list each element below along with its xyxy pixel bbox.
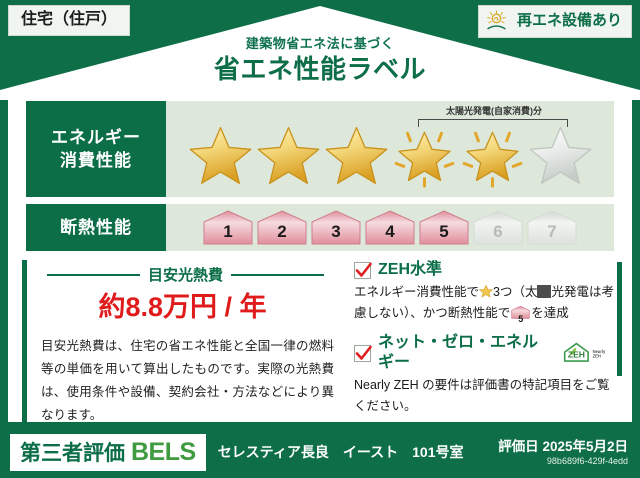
label-card: エネルギー 消費性能 太陽光発電(自家消費)分 xyxy=(8,92,632,422)
solar-annotation: 太陽光発電(自家消費)分 xyxy=(414,106,574,117)
star-icon-5-solar xyxy=(459,122,526,188)
insulation-badge-5-label: 5 xyxy=(418,222,470,242)
zeh-netzero-body: Nearly ZEH の要件は評価書の特記項目をご覧ください。 xyxy=(354,375,618,417)
insulation-badge-1: 1 xyxy=(202,209,254,247)
detail-columns: 目安光熱費 約8.8万円 / 年 目安光熱費は、住宅の省エネ性能と全国一律の燃料… xyxy=(22,260,618,427)
insulation-badge-7: 7 xyxy=(526,209,578,247)
zeh-standard-body: エネルギー消費性能で3つ（太光発電は考慮しない）、かつ断熱性能で5を達成 xyxy=(354,282,618,324)
heading-rule-left xyxy=(47,274,140,276)
bels-logo-en: BELS xyxy=(131,438,196,467)
check-icon xyxy=(354,261,373,280)
label-subtitle: 建築物省エネ法に基づく xyxy=(0,36,640,52)
energy-label-line1: エネルギー xyxy=(51,126,141,149)
insulation-badge-3-label: 3 xyxy=(310,222,362,242)
zeh-standard-checkbox[interactable] xyxy=(354,262,371,279)
zeh-netzero-block: ネット・ゼロ・エネルギー ZEH Nearly ZEH Nearly ZEH の… xyxy=(354,333,618,417)
label-title: 省エネ性能ラベル xyxy=(0,53,640,85)
energy-performance-label: エネルギー 消費性能 xyxy=(26,101,166,197)
house-type-badge: 住宅（住戸） xyxy=(8,5,130,36)
svg-text:ZEH: ZEH xyxy=(593,354,601,359)
insulation-badge-6: 6 xyxy=(472,209,524,247)
footer-bar: 第三者評価 BELS セレスティア長良 イースト 101号室 評価日 2025年… xyxy=(0,426,640,478)
bels-logo: 第三者評価 BELS xyxy=(10,434,206,471)
bels-logo-jp: 第三者評価 xyxy=(20,437,125,467)
mini-star-icon xyxy=(479,284,493,298)
svg-text:ZEH: ZEH xyxy=(568,350,585,360)
star-icon-2 xyxy=(255,122,322,188)
utility-cost-amount: 約8.8万円 / 年 xyxy=(35,291,340,323)
insulation-badge-5: 5 xyxy=(418,209,470,247)
redacted-character xyxy=(537,285,551,298)
insulation-badge-4-label: 4 xyxy=(364,222,416,242)
insulation-badge-6-label: 6 xyxy=(472,222,524,242)
heading-rule-right xyxy=(231,274,324,276)
zeh-standard-text-3: を達成 xyxy=(531,306,569,320)
utility-cost-heading-text: 目安光熱費 xyxy=(148,264,223,285)
insulation-badge-4: 4 xyxy=(364,209,416,247)
renewable-energy-label: 再エネ設備あり xyxy=(517,12,622,30)
zeh-standard-title: ZEH水準 xyxy=(378,260,442,280)
insulation-levels-panel: 1 2 3 4 xyxy=(166,204,614,251)
insulation-scale: 1 2 3 4 xyxy=(166,204,614,251)
zeh-netzero-checkbox[interactable] xyxy=(354,345,371,362)
star-icon-4-solar xyxy=(391,122,458,188)
star-icon-6-empty xyxy=(527,122,594,188)
check-icon xyxy=(354,344,373,363)
insulation-badge-2: 2 xyxy=(256,209,308,247)
energy-label-line2: 消費性能 xyxy=(60,149,132,172)
insulation-badge-3: 3 xyxy=(310,209,362,247)
star-icon-3 xyxy=(323,122,390,188)
zeh-standard-block: ZEH水準 エネルギー消費性能で3つ（太光発電は考慮しない）、かつ断熱性能で5を… xyxy=(354,260,618,324)
zeh-netzero-title: ネット・ゼロ・エネルギー xyxy=(378,333,551,373)
insulation-performance-label: 断熱性能 xyxy=(26,204,166,251)
utility-cost-heading: 目安光熱費 xyxy=(47,264,324,285)
zeh-logo-icon: ZEH Nearly ZEH xyxy=(562,340,618,366)
insulation-badge-1-label: 1 xyxy=(202,222,254,242)
label-heading-group: 建築物省エネ法に基づく 省エネ性能ラベル xyxy=(0,36,640,85)
utility-cost-column: 目安光熱費 約8.8万円 / 年 目安光熱費は、住宅の省エネ性能と全国一律の燃料… xyxy=(22,260,340,427)
star-icon-1 xyxy=(187,122,254,188)
energy-stars-panel: 太陽光発電(自家消費)分 xyxy=(166,101,614,197)
zeh-standard-text-1: エネルギー消費性能で xyxy=(354,285,479,299)
mini-insulation-badge: 5 xyxy=(511,305,530,320)
sun-icon xyxy=(486,10,512,32)
zeh-column: ZEH水準 エネルギー消費性能で3つ（太光発電は考慮しない）、かつ断熱性能で5を… xyxy=(340,260,618,427)
evaluation-id: 98b689f6-429f-4edd xyxy=(498,455,628,467)
utility-cost-note: 目安光熱費は、住宅の省エネ性能と全国一律の燃料等の単価を用いて算出したものです。… xyxy=(41,335,334,427)
insulation-badge-7-label: 7 xyxy=(526,222,578,242)
energy-performance-row: エネルギー 消費性能 太陽光発電(自家消費)分 xyxy=(26,101,614,197)
insulation-performance-row: 断熱性能 xyxy=(26,204,614,251)
renewable-energy-badge: 再エネ設備あり xyxy=(478,5,632,38)
zeh-standard-star-count: 3つ（太 xyxy=(493,285,537,299)
evaluation-info: 評価日 2025年5月2日 98b689f6-429f-4edd xyxy=(498,438,628,467)
mini-insulation-level: 5 xyxy=(511,309,530,330)
evaluation-date: 評価日 2025年5月2日 xyxy=(498,438,628,455)
zeh-netzero-heading: ネット・ゼロ・エネルギー ZEH Nearly ZEH xyxy=(354,333,618,373)
zeh-standard-heading: ZEH水準 xyxy=(354,260,618,280)
insulation-label-text: 断熱性能 xyxy=(60,216,132,239)
insulation-badge-2-label: 2 xyxy=(256,222,308,242)
property-name: セレスティア長良 イースト 101号室 xyxy=(218,442,464,462)
